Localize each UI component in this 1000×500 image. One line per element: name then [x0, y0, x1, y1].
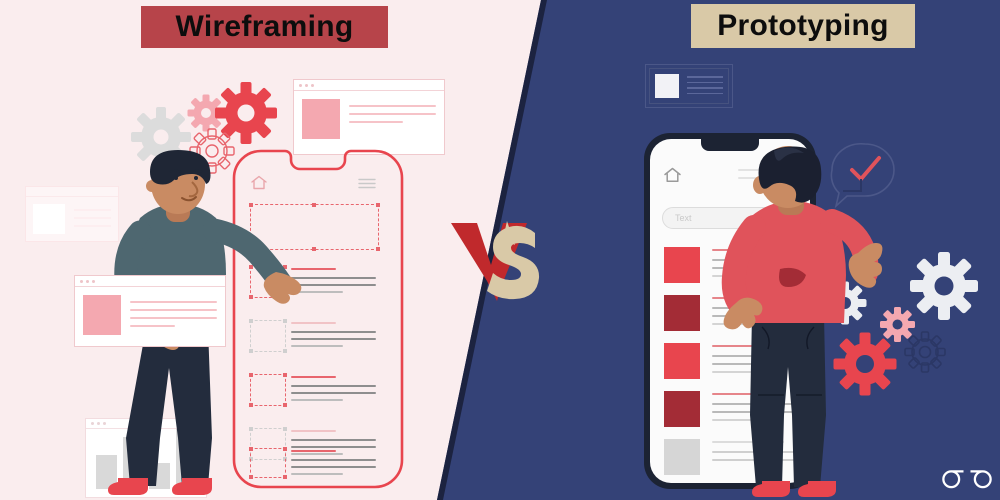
card-body — [75, 287, 225, 343]
card-text-lines — [349, 99, 436, 139]
text-line — [687, 87, 723, 89]
versus-badge — [449, 219, 549, 299]
card-body — [294, 91, 444, 147]
window-dot — [86, 280, 89, 283]
card-thumbnail — [655, 74, 679, 98]
page-title-text: Wireframing — [175, 10, 353, 44]
text-line — [130, 325, 175, 327]
card-thumbnail — [83, 295, 121, 335]
text-line — [687, 82, 723, 84]
text-line — [687, 93, 723, 95]
right-panel-title: Prototyping — [691, 4, 915, 48]
window-dot — [80, 280, 83, 283]
text-line — [130, 317, 217, 319]
text-line — [349, 105, 436, 107]
text-line — [349, 121, 403, 123]
row-thumbnail — [664, 247, 700, 283]
card-text-lines — [687, 76, 723, 94]
card-text-lines — [130, 295, 217, 335]
comparison-banner: Text — [0, 0, 1000, 500]
gear-outline-navy-icon — [903, 330, 947, 374]
window-dot — [299, 84, 302, 87]
geeksforgeeks-logo — [946, 458, 988, 490]
row-thumbnail — [664, 343, 700, 379]
designer-touching-screen-illustration — [722, 155, 872, 500]
window-dot — [92, 280, 95, 283]
home-icon[interactable] — [664, 167, 681, 183]
card-thumbnail — [33, 204, 65, 234]
gear-white-large-icon — [908, 250, 980, 322]
card-title-bar — [294, 80, 444, 91]
phone-notch — [701, 139, 759, 151]
card-title-bar — [75, 276, 225, 287]
text-line — [130, 301, 217, 303]
row-thumbnail — [664, 439, 700, 475]
text-line — [687, 76, 723, 78]
resize-handle[interactable] — [376, 203, 380, 207]
text-line — [349, 113, 436, 115]
resize-handle[interactable] — [376, 247, 380, 251]
page-title-text: Prototyping — [717, 9, 889, 43]
list-card-dark — [645, 64, 733, 108]
window-dot — [305, 84, 308, 87]
row-thumbnail — [664, 295, 700, 331]
left-panel-title: Wireframing — [141, 6, 388, 48]
text-line — [130, 309, 217, 311]
hamburger-menu-icon[interactable] — [358, 178, 376, 189]
window-dot — [311, 84, 314, 87]
browser-card-middle — [74, 275, 226, 347]
window-dot — [91, 422, 94, 425]
row-thumbnail — [664, 391, 700, 427]
search-placeholder: Text — [675, 213, 692, 223]
card-thumbnail — [302, 99, 340, 139]
browser-card-top — [293, 79, 445, 155]
